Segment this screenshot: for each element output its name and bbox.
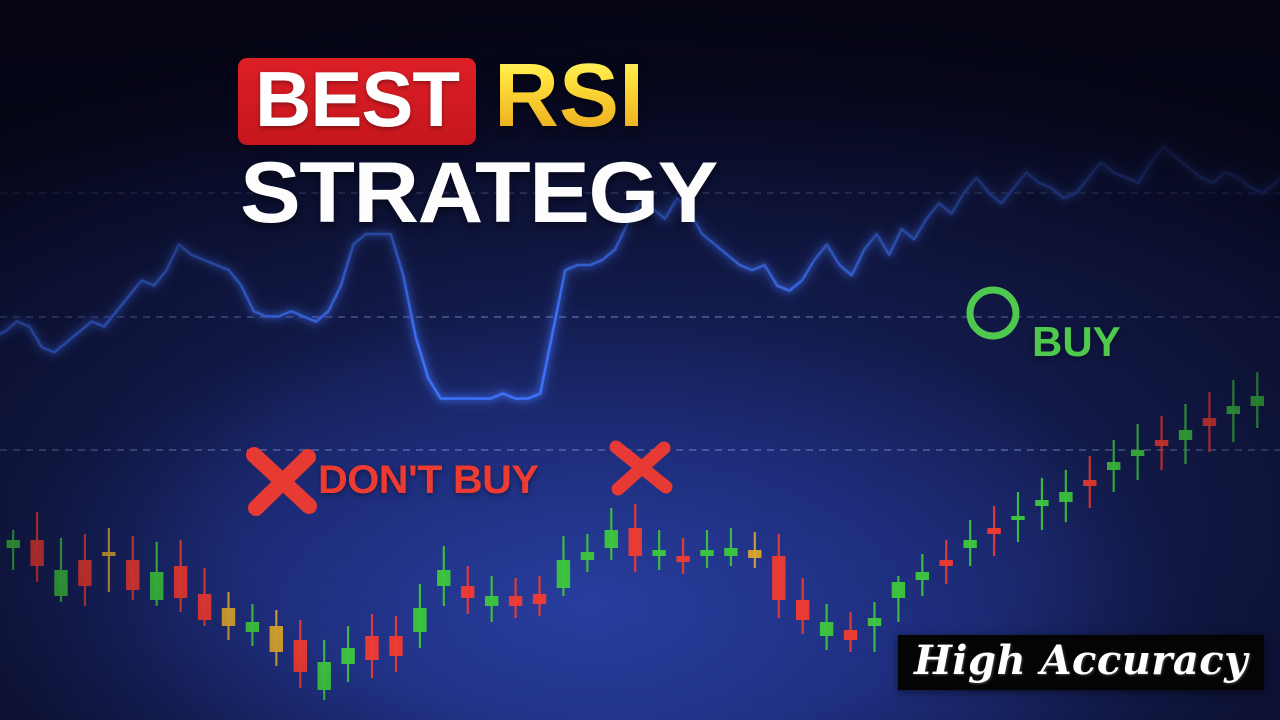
red-x-icon: [616, 447, 666, 489]
high-accuracy-label: High Accuracy: [914, 641, 1248, 681]
red-x-icon: [254, 455, 309, 508]
high-accuracy-badge: High Accuracy: [898, 635, 1264, 690]
buy-annotation: BUY: [1032, 318, 1121, 366]
thumbnail-canvas: BEST RSI STRATEGY DON'T BUY BUY High Acc…: [0, 0, 1280, 720]
circle-marker-icon: [970, 290, 1016, 336]
dont-buy-annotation: DON'T BUY: [318, 458, 538, 503]
